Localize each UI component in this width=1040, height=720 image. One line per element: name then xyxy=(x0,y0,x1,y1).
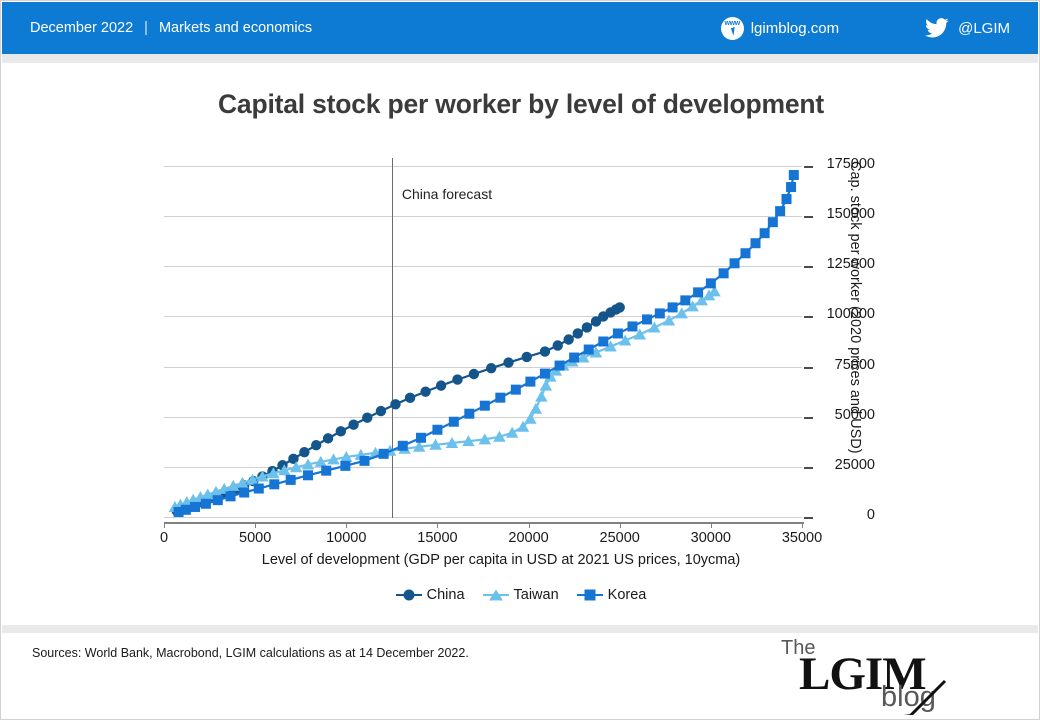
y-axis-tick-label: 25000 xyxy=(813,457,875,473)
x-axis-tick-label: 25000 xyxy=(585,530,655,546)
x-axis-tick-label: 15000 xyxy=(402,530,472,546)
blog-url-label: lgimblog.com xyxy=(751,20,839,37)
header-divider-band xyxy=(2,54,1038,63)
x-axis-tick-label: 35000 xyxy=(767,530,837,546)
legend-item-china[interactable]: China xyxy=(396,587,465,603)
y-axis-tick-label: 175000 xyxy=(813,156,875,172)
umbrella-icon xyxy=(899,641,1031,715)
header-bar: December 2022 | Markets and economics ww… xyxy=(2,2,1038,54)
y-axis-tick xyxy=(804,216,813,218)
y-axis-tick-label: 100000 xyxy=(813,306,875,322)
chart-series-svg xyxy=(164,166,802,517)
header-meta: December 2022 | Markets and economics xyxy=(30,20,312,36)
y-axis-tick xyxy=(804,467,813,469)
x-axis-tick xyxy=(346,522,347,528)
x-axis-title: Level of development (GDP per capita in … xyxy=(1,552,1001,568)
chart-plot-area: China forecast xyxy=(164,166,802,517)
www-globe-icon: www xyxy=(721,17,744,40)
x-axis-tick xyxy=(529,522,530,528)
x-axis-tick xyxy=(255,522,256,528)
blog-link[interactable]: www lgimblog.com xyxy=(721,17,839,40)
twitter-handle-label: @LGIM xyxy=(958,20,1010,37)
y-axis-tick-label: 125000 xyxy=(813,256,875,272)
y-axis-tick-label: 0 xyxy=(813,507,875,523)
x-axis-tick xyxy=(437,522,438,528)
legend-label: China xyxy=(427,587,465,603)
slide-canvas: December 2022 | Markets and economics ww… xyxy=(0,0,1040,720)
umbrella-handle xyxy=(911,681,945,715)
x-axis-tick-label: 20000 xyxy=(494,530,564,546)
y-axis-tick-label: 75000 xyxy=(813,357,875,373)
series-taiwan xyxy=(169,285,721,512)
sources-note: Sources: World Bank, Macrobond, LGIM cal… xyxy=(32,646,469,660)
x-axis-tick xyxy=(802,522,803,528)
x-axis-tick xyxy=(711,522,712,528)
y-axis-tick xyxy=(804,417,813,419)
x-axis-line xyxy=(164,522,804,524)
series-korea xyxy=(174,170,799,517)
gridline xyxy=(164,517,802,518)
y-axis-tick xyxy=(804,266,813,268)
y-axis-tick-label: 150000 xyxy=(813,206,875,222)
x-axis-tick xyxy=(620,522,621,528)
legend-marker-taiwan xyxy=(483,594,509,597)
y-axis-title: Cap. stock per worker (2020 prices and U… xyxy=(847,161,863,521)
page-title: Capital stock per worker by level of dev… xyxy=(1,89,1040,120)
y-axis-tick xyxy=(804,166,813,168)
x-axis-tick-label: 0 xyxy=(129,530,199,546)
twitter-bird-icon xyxy=(925,18,949,38)
legend-marker-china xyxy=(396,594,422,597)
legend-label: Taiwan xyxy=(514,587,559,603)
header-links: www lgimblog.com @LGIM xyxy=(721,2,1038,54)
y-axis-tick-label: 50000 xyxy=(813,407,875,423)
y-axis-tick xyxy=(804,316,813,318)
header-category: Markets and economics xyxy=(159,20,312,36)
x-axis-tick-label: 10000 xyxy=(311,530,381,546)
header-date: December 2022 xyxy=(30,20,133,36)
lgim-blog-logo: The LGIM blog xyxy=(769,629,1031,715)
legend-marker-korea xyxy=(577,594,603,597)
legend-item-taiwan[interactable]: Taiwan xyxy=(483,587,559,603)
x-axis-tick-label: 30000 xyxy=(676,530,746,546)
x-axis-tick-label: 5000 xyxy=(220,530,290,546)
y-axis-tick xyxy=(804,517,813,519)
legend-item-korea[interactable]: Korea xyxy=(577,587,647,603)
header-separator: | xyxy=(144,20,148,36)
twitter-link[interactable]: @LGIM xyxy=(925,18,1010,38)
chart-legend: ChinaTaiwanKorea xyxy=(1,587,1040,603)
y-axis-tick xyxy=(804,367,813,369)
x-axis-tick xyxy=(164,522,165,528)
legend-label: Korea xyxy=(608,587,647,603)
